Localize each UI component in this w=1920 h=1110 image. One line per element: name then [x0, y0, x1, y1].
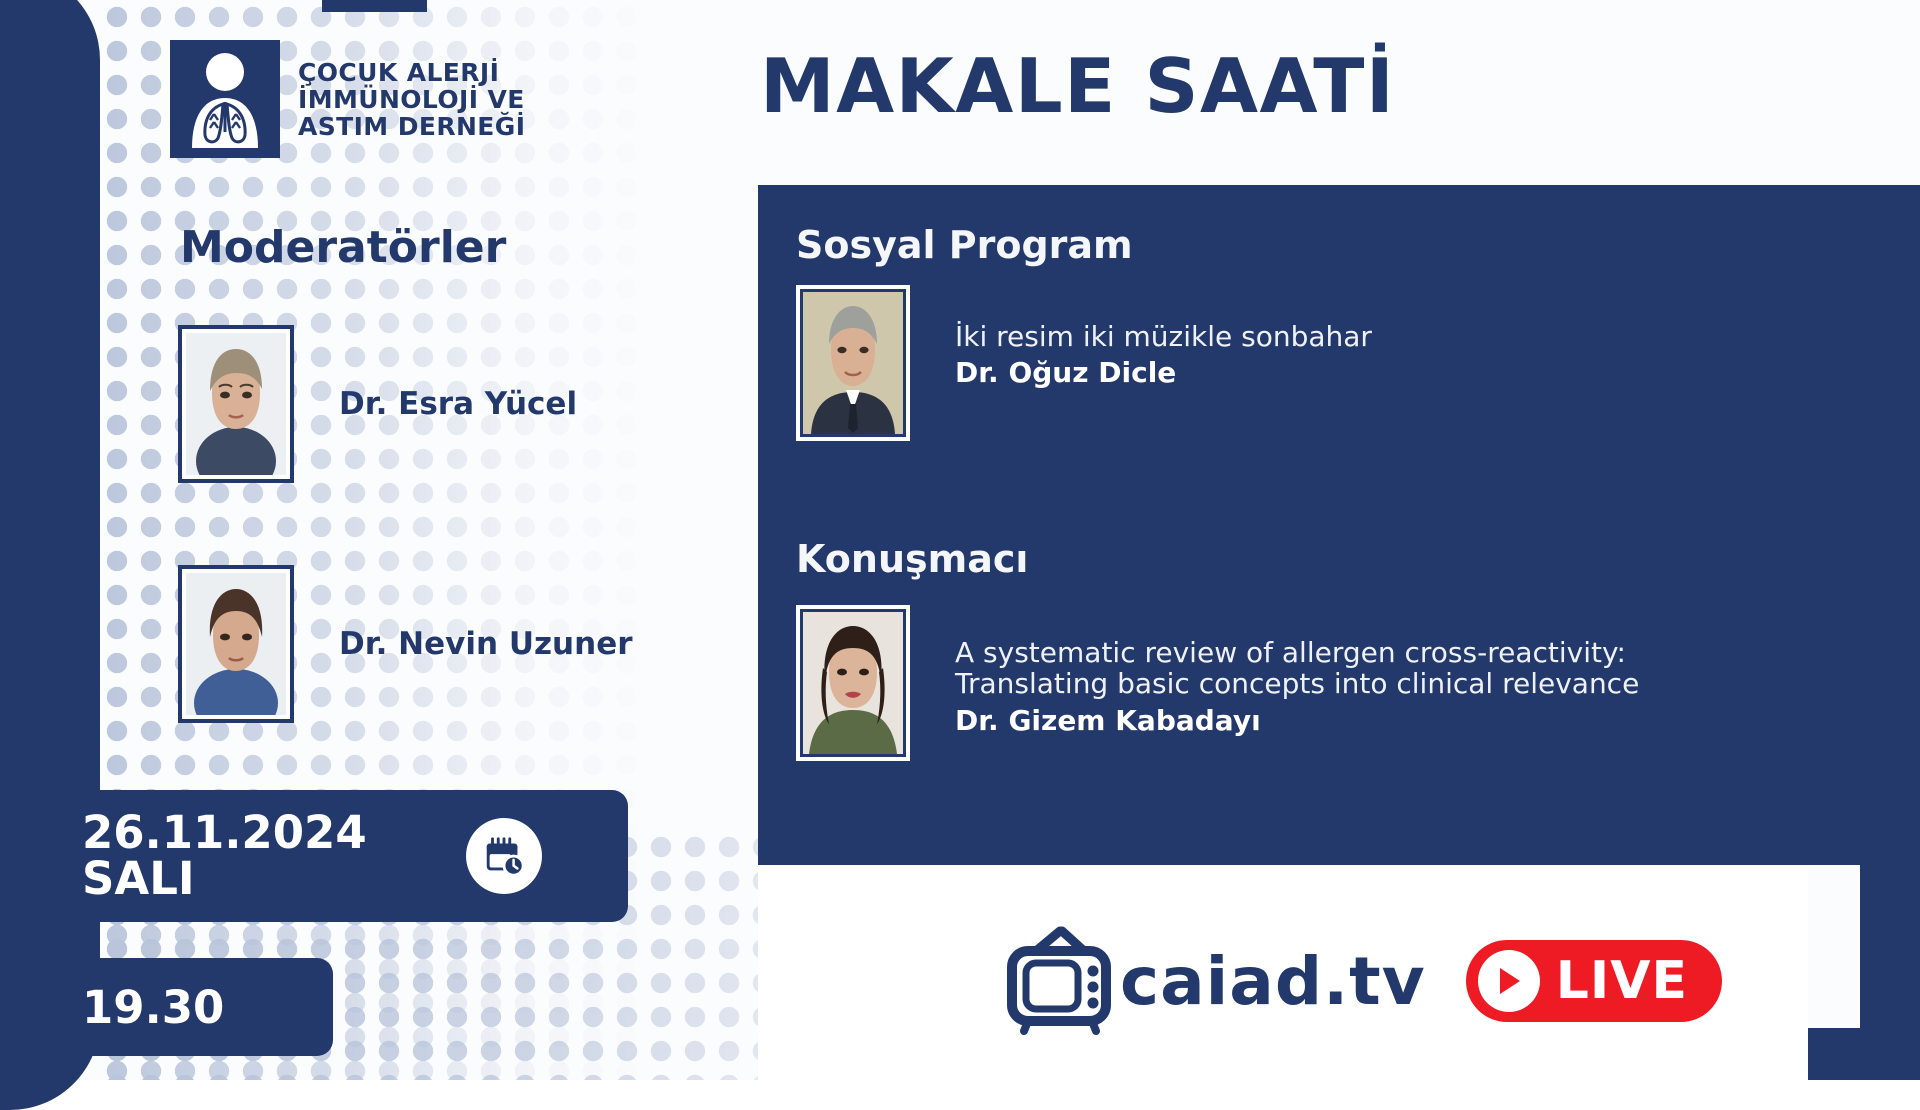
moderators-heading: Moderatörler [180, 222, 506, 273]
portrait-oguz-dicle [803, 292, 903, 434]
social-program-person: Dr. Oğuz Dicle [955, 356, 1372, 389]
moderator-photo-frame [178, 565, 294, 723]
social-program-talk-title: İki resim iki müzikle sonbahar [955, 321, 1372, 352]
social-program-entry: İki resim iki müzikle sonbahar Dr. Oğuz … [796, 285, 1372, 441]
poster-stage: ÇOCUK ALERJİ İMMÜNOLOJİ VE ASTIM DERNEĞİ… [0, 0, 1920, 1080]
organization-logo: ÇOCUK ALERJİ İMMÜNOLOJİ VE ASTIM DERNEĞİ [170, 40, 525, 158]
caiad-tv-wordmark: caiad.tv [1120, 943, 1426, 1020]
caiad-tv-logo[interactable]: caiad.tv [1000, 925, 1426, 1037]
child-lungs-logo-icon [170, 40, 280, 158]
social-program-heading: Sosyal Program [796, 223, 1133, 267]
event-time: 19.30 [82, 981, 224, 1034]
portrait-esra-yucel [186, 333, 286, 475]
left-accent-shape [0, 0, 100, 1110]
speaker-heading: Konuşmacı [796, 537, 1028, 581]
moderator-row: Dr. Nevin Uzuner [178, 565, 633, 723]
play-icon [1478, 950, 1540, 1012]
moderator-name: Dr. Esra Yücel [339, 386, 577, 422]
speaker-person: Dr. Gizem Kabadayı [955, 704, 1639, 737]
moderator-row: Dr. Esra Yücel [178, 325, 577, 483]
date-card: 26.11.2024 SALI [48, 790, 628, 922]
portrait-gizem-kabadayi [803, 612, 903, 754]
retro-tv-icon [1000, 925, 1118, 1037]
live-badge[interactable]: LIVE [1466, 940, 1722, 1022]
speaker-entry: A systematic review of allergen cross-re… [796, 605, 1639, 761]
portrait-nevin-uzuner [186, 573, 286, 715]
organization-name: ÇOCUK ALERJİ İMMÜNOLOJİ VE ASTIM DERNEĞİ [298, 59, 525, 140]
footer-content: caiad.tv LIVE [1000, 925, 1722, 1037]
page-title: MAKALE SAATİ [760, 42, 1395, 130]
top-accent-tab [322, 0, 427, 12]
moderator-photo-frame [178, 325, 294, 483]
moderator-name: Dr. Nevin Uzuner [339, 626, 633, 662]
speaker-photo-frame [796, 285, 910, 441]
program-panel: Sosyal Program İki resim iki müzikle son… [758, 185, 1920, 865]
live-label: LIVE [1556, 951, 1688, 1011]
time-card: 19.30 [48, 958, 333, 1056]
speaker-text: A systematic review of allergen cross-re… [955, 605, 1639, 737]
event-date: 26.11.2024 SALI [82, 810, 367, 902]
speaker-talk-title: A systematic review of allergen cross-re… [955, 637, 1639, 700]
speaker-photo-frame [796, 605, 910, 761]
calendar-clock-icon [466, 818, 542, 894]
social-program-text: İki resim iki müzikle sonbahar Dr. Oğuz … [955, 285, 1372, 389]
